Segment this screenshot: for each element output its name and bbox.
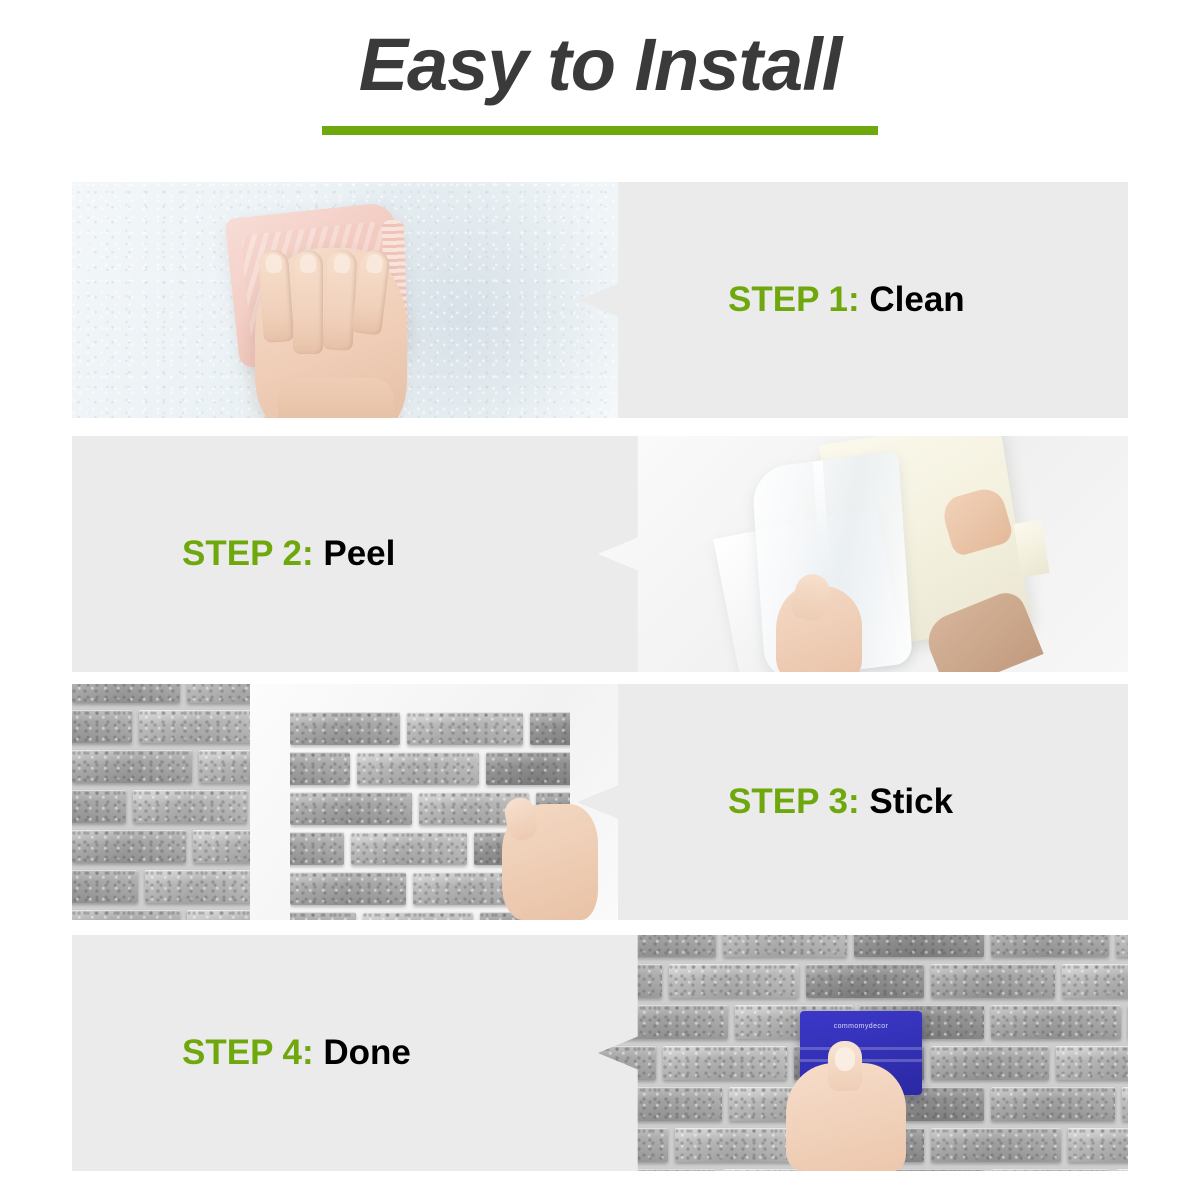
brick: [72, 790, 126, 823]
brick: [1062, 964, 1128, 998]
step-2-word: Peel: [323, 534, 395, 573]
header: Easy to Install: [0, 28, 1200, 135]
fingernail: [265, 254, 282, 274]
brick: [290, 832, 344, 865]
brick: [1068, 1128, 1128, 1162]
brick: [931, 1128, 1061, 1162]
brick: [72, 910, 180, 920]
step-1-prefix: STEP 1:: [728, 280, 860, 319]
brick: [290, 752, 350, 785]
easy-to-install-infographic: Easy to Install STEP 1:: [0, 0, 1200, 1200]
brick: [1056, 1046, 1128, 1080]
brick: [290, 712, 400, 745]
brick: [139, 710, 259, 743]
brick: [133, 790, 247, 823]
brick: [363, 912, 473, 920]
brick: [1116, 935, 1128, 957]
step-1-label-area: STEP 1: Clean: [618, 182, 1128, 418]
step-2-photo: [598, 436, 1128, 672]
step-2-prefix: STEP 2:: [182, 534, 314, 573]
brick: [675, 1128, 793, 1162]
brick: [931, 1046, 1049, 1080]
brick: [72, 684, 180, 703]
brick: [991, 935, 1109, 957]
brick: [290, 792, 412, 825]
step-4-label: STEP 4: Done: [182, 1033, 411, 1073]
step-3-label: STEP 3: Stick: [728, 782, 953, 822]
brick: [1116, 1169, 1128, 1171]
step-3-word: Stick: [869, 782, 953, 821]
step-2-label-area: STEP 2: Peel: [72, 436, 618, 672]
brick: [72, 750, 192, 783]
step-row-2: STEP 2: Peel: [72, 436, 1128, 672]
finger: [258, 249, 294, 343]
sticking-hand: [502, 804, 598, 920]
title-underline-rule: [322, 126, 878, 135]
squeegee-brand-text: commomydecor: [800, 1023, 922, 1030]
finger: [293, 250, 323, 354]
fingernail: [333, 254, 350, 274]
fingernail: [300, 254, 316, 273]
brick: [854, 935, 984, 957]
left-hand: [776, 586, 862, 672]
step-2-label: STEP 2: Peel: [182, 534, 395, 574]
brick: [669, 964, 799, 998]
brick: [931, 964, 1055, 998]
brick: [806, 964, 924, 998]
brick: [72, 830, 186, 863]
pressing-hand: [786, 1063, 906, 1171]
step-row-1: STEP 1: Clean: [72, 182, 1128, 418]
brick: [290, 872, 406, 905]
step-4-label-area: STEP 4: Done: [72, 935, 618, 1171]
step-1-label: STEP 1: Clean: [728, 280, 965, 320]
brick: [407, 712, 523, 745]
brick: [530, 712, 570, 745]
brick-course: [598, 935, 1128, 957]
step-3-label-area: STEP 3: Stick: [618, 684, 1128, 920]
page-title: Easy to Install: [0, 28, 1200, 102]
brick: [486, 752, 570, 785]
wrist: [278, 378, 394, 418]
fingernail: [365, 253, 383, 274]
step-4-photo: commomydecor: [598, 935, 1128, 1171]
finger: [322, 249, 357, 350]
step-3-photo: [72, 684, 618, 920]
brick: [663, 1046, 787, 1080]
step-row-3: STEP 3: Stick: [72, 684, 1128, 920]
step-1-word: Clean: [869, 280, 964, 319]
brick: [290, 912, 356, 920]
step-4-prefix: STEP 4:: [182, 1033, 314, 1072]
step-4-word: Done: [323, 1033, 411, 1072]
thumbnail: [835, 1047, 855, 1071]
brick: [357, 752, 479, 785]
step-1-photo: [72, 182, 618, 418]
step-row-4: STEP 4: Done commomydecor: [72, 935, 1128, 1171]
brick: [1122, 1087, 1128, 1121]
brick: [991, 1169, 1109, 1171]
brick: [351, 832, 467, 865]
brick-course: [290, 712, 570, 745]
step-3-prefix: STEP 3:: [728, 782, 860, 821]
brick: [723, 935, 847, 957]
brick: [991, 1005, 1121, 1039]
brick-course: [290, 752, 570, 785]
brick-course: [598, 964, 1128, 998]
brick: [991, 1087, 1115, 1121]
brick: [145, 870, 253, 903]
brick: [72, 870, 138, 903]
finger: [351, 248, 391, 335]
brick: [72, 710, 132, 743]
